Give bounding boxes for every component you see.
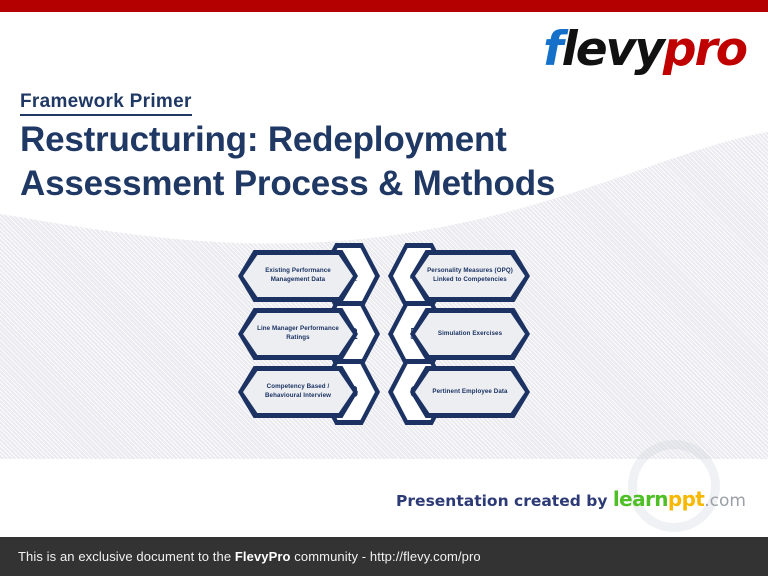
hexagon-label-text-5: Simulation Exercises <box>438 330 502 339</box>
hexagon-diagram: 1 Existing Performance Management Data 4… <box>238 250 530 422</box>
hexagon-label-text-4: Personality Measures (OPQ) Linked to Com… <box>425 267 515 285</box>
diagram-row: 1 Existing Performance Management Data 4… <box>238 250 530 302</box>
flevypro-logo: flevypro <box>543 26 746 73</box>
learnppt-ppt: ppt <box>668 487 704 511</box>
hexagon-label-shape-3: Competency Based / Behavioural Interview <box>238 366 358 418</box>
circle-watermark <box>628 440 720 532</box>
top-accent-bar <box>0 0 768 12</box>
hexagon-label-shape-6: Pertinent Employee Data <box>410 366 530 418</box>
hexagon-item-3[interactable]: 3 Competency Based / Behavioural Intervi… <box>238 366 380 418</box>
hexagon-label-shape-5: Simulation Exercises <box>410 308 530 360</box>
hexagon-item-2[interactable]: 2 Line Manager Performance Ratings <box>238 308 380 360</box>
hexagon-label-shape-1: Existing Performance Management Data <box>238 250 358 302</box>
hexagon-label-text-2: Line Manager Performance Ratings <box>253 325 343 343</box>
hexagon-item-1[interactable]: 1 Existing Performance Management Data <box>238 250 380 302</box>
eyebrow-label: Framework Primer <box>20 91 192 116</box>
footer-brand: FlevyPro <box>235 549 291 564</box>
footer-bar: This is an exclusive document to the Fle… <box>0 537 768 576</box>
hexagon-item-6[interactable]: 6 Pertinent Employee Data <box>388 366 530 418</box>
learnppt-learn: learn <box>613 487 668 511</box>
hexagon-label-text-3: Competency Based / Behavioural Interview <box>253 383 343 401</box>
hexagon-item-5[interactable]: 5 Simulation Exercises <box>388 308 530 360</box>
hexagon-label-inner-6: Pertinent Employee Data <box>415 371 525 413</box>
hexagon-label-shape-4: Personality Measures (OPQ) Linked to Com… <box>410 250 530 302</box>
credit-lead-text: Presentation created by <box>396 492 607 510</box>
hexagon-item-4[interactable]: 4 Personality Measures (OPQ) Linked to C… <box>388 250 530 302</box>
learnppt-com: .com <box>704 491 746 511</box>
hexagon-label-inner-4: Personality Measures (OPQ) Linked to Com… <box>415 255 525 297</box>
logo-letter-f: f <box>543 22 561 77</box>
logo-text-pro: pro <box>663 22 746 77</box>
presentation-credit: Presentation created by learnppt.com <box>396 489 746 510</box>
footer-text: This is an exclusive document to the Fle… <box>18 549 481 564</box>
page-title: Restructuring: Redeployment Assessment P… <box>20 118 680 206</box>
slide-canvas: flevypro Framework Primer Restructuring:… <box>0 0 768 576</box>
footer-suffix: community - http://flevy.com/pro <box>291 549 481 564</box>
hexagon-label-inner-5: Simulation Exercises <box>415 313 525 355</box>
hexagon-label-inner-3: Competency Based / Behavioural Interview <box>243 371 353 413</box>
diagram-row: 2 Line Manager Performance Ratings 5 Sim… <box>238 308 530 360</box>
hexagon-label-text-1: Existing Performance Management Data <box>253 267 343 285</box>
diagram-row: 3 Competency Based / Behavioural Intervi… <box>238 366 530 418</box>
logo-text-levy: levy <box>562 22 663 77</box>
hexagon-label-shape-2: Line Manager Performance Ratings <box>238 308 358 360</box>
hexagon-label-inner-2: Line Manager Performance Ratings <box>243 313 353 355</box>
hexagon-label-inner-1: Existing Performance Management Data <box>243 255 353 297</box>
hexagon-label-text-6: Pertinent Employee Data <box>432 388 507 397</box>
footer-prefix: This is an exclusive document to the <box>18 549 235 564</box>
